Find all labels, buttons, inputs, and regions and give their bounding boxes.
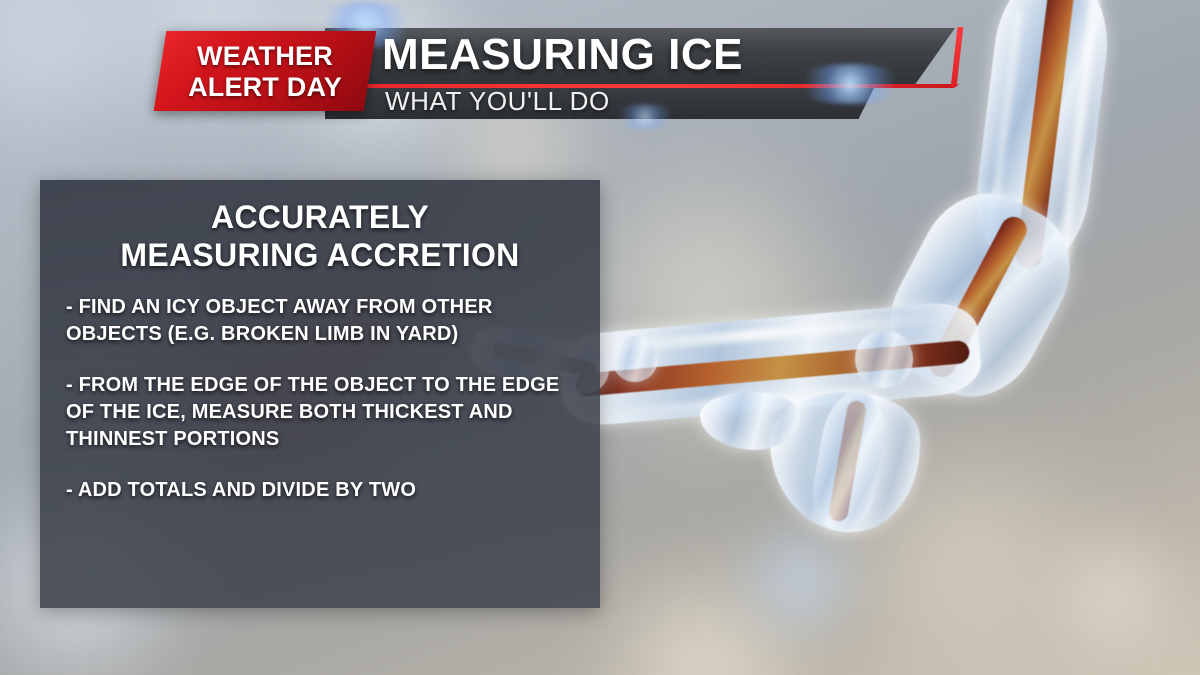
panel-title: ACCURATELY MEASURING ACCRETION (58, 198, 582, 274)
panel-title-line1: ACCURATELY (58, 198, 582, 236)
ice-node (855, 330, 913, 388)
panel-bullet-item: - FROM THE EDGE OF THE OBJECT TO THE EDG… (66, 372, 578, 453)
info-panel: ACCURATELY MEASURING ACCRETION - FIND AN… (40, 180, 600, 608)
panel-title-line2: MEASURING ACCRETION (58, 236, 582, 274)
ice-node (612, 336, 658, 382)
alert-badge-line1: WEATHER (197, 41, 333, 71)
panel-bullet-item: - FIND AN ICY OBJECT AWAY FROM OTHER OBJ… (66, 294, 578, 348)
panel-bullet-list: - FIND AN ICY OBJECT AWAY FROM OTHER OBJ… (66, 294, 578, 504)
banner-subtitle: WHAT YOU'LL DO (385, 85, 610, 118)
weather-graphic: WEATHER ALERT DAY MEASURING ICE WHAT YOU… (0, 0, 1200, 675)
weather-alert-day-badge: WEATHER ALERT DAY (154, 31, 377, 111)
ice-drip (700, 392, 800, 450)
header-banner: WEATHER ALERT DAY MEASURING ICE WHAT YOU… (0, 0, 1200, 140)
alert-badge-line2: ALERT DAY (188, 72, 342, 102)
banner-title: MEASURING ICE (382, 26, 743, 84)
panel-bullet-item: - ADD TOTALS AND DIVIDE BY TWO (66, 477, 578, 504)
